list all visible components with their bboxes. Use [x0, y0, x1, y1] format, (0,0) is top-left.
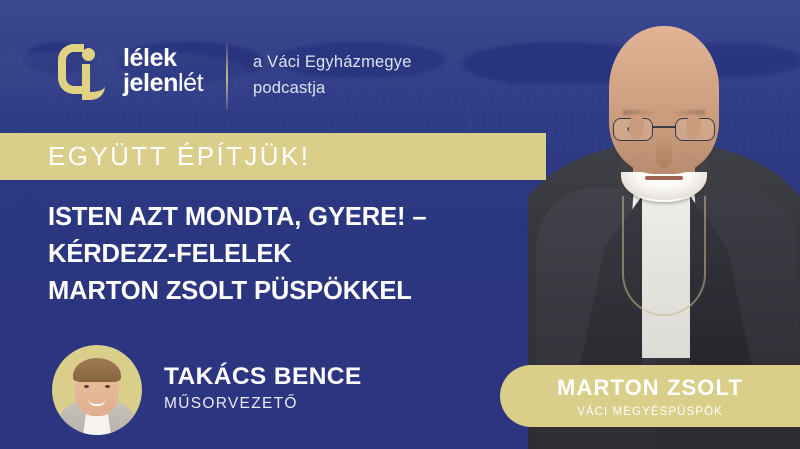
- logo-dot-shape: [82, 48, 95, 61]
- guest-name-tag-inner: MARTON ZSOLT VÁCI MEGYÉSPÜSPÖK: [500, 374, 800, 418]
- episode-title-line-3: MARTON ZSOLT PÜSPÖKKEL: [48, 273, 548, 310]
- guest-name: MARTON ZSOLT: [500, 374, 800, 402]
- portrait-nose: [656, 138, 672, 168]
- portrait-mouth: [645, 176, 683, 180]
- logo-bracket-shape: [58, 44, 84, 94]
- host-avatar-hair: [73, 358, 121, 382]
- brand-wordmark: lélek jelenlét: [123, 46, 203, 96]
- portrait-ear-right: [629, 114, 644, 140]
- host-avatar-eye-right: [105, 385, 110, 388]
- portrait-ear-left: [686, 114, 701, 140]
- campaign-banner: EGYÜTT ÉPÍTJÜK!: [0, 133, 546, 180]
- host-block: TAKÁCS BENCE MŰSORVEZETŐ: [52, 345, 362, 435]
- host-role: MŰSORVEZETŐ: [164, 395, 362, 413]
- host-name: TAKÁCS BENCE: [164, 363, 362, 392]
- podcast-cover-card: lélek jelenlét a Váci Egyházmegye podcas…: [0, 0, 800, 449]
- guest-name-tag: MARTON ZSOLT VÁCI MEGYÉSPÜSPÖK: [500, 365, 800, 427]
- episode-title: ISTEN AZT MONDTA, GYERE! – KÉRDEZZ-FELEL…: [48, 199, 548, 310]
- vertical-divider-icon: [226, 44, 228, 110]
- logo-line-2: jelenlét: [123, 71, 203, 96]
- glasses-bridge: [653, 126, 675, 128]
- portrait-head: [609, 26, 719, 174]
- logo-j-shape: [82, 64, 105, 100]
- episode-title-line-1: ISTEN AZT MONDTA, GYERE! –: [48, 199, 548, 236]
- host-avatar-eye-left: [84, 385, 89, 388]
- bracket-j-logo-icon: [58, 42, 110, 100]
- logo-line-2-bold: jelen: [123, 69, 178, 97]
- host-avatar: [52, 345, 142, 435]
- host-text: TAKÁCS BENCE MŰSORVEZETŐ: [164, 363, 362, 417]
- logo-line-2-thin: lét: [178, 69, 203, 97]
- portrait-pectoral-cross-chain: [622, 196, 706, 316]
- episode-title-line-2: KÉRDEZZ-FELELEK: [48, 236, 548, 273]
- logo-line-1: lélek: [123, 46, 203, 71]
- header: lélek jelenlét a Váci Egyházmegye podcas…: [0, 0, 560, 130]
- guest-role: VÁCI MEGYÉSPÜSPÖK: [500, 406, 800, 418]
- brand-logo[interactable]: lélek jelenlét: [58, 42, 203, 100]
- campaign-banner-label: EGYÜTT ÉPÍTJÜK!: [48, 133, 310, 180]
- header-subtitle: a Váci Egyházmegye podcastja: [253, 50, 412, 101]
